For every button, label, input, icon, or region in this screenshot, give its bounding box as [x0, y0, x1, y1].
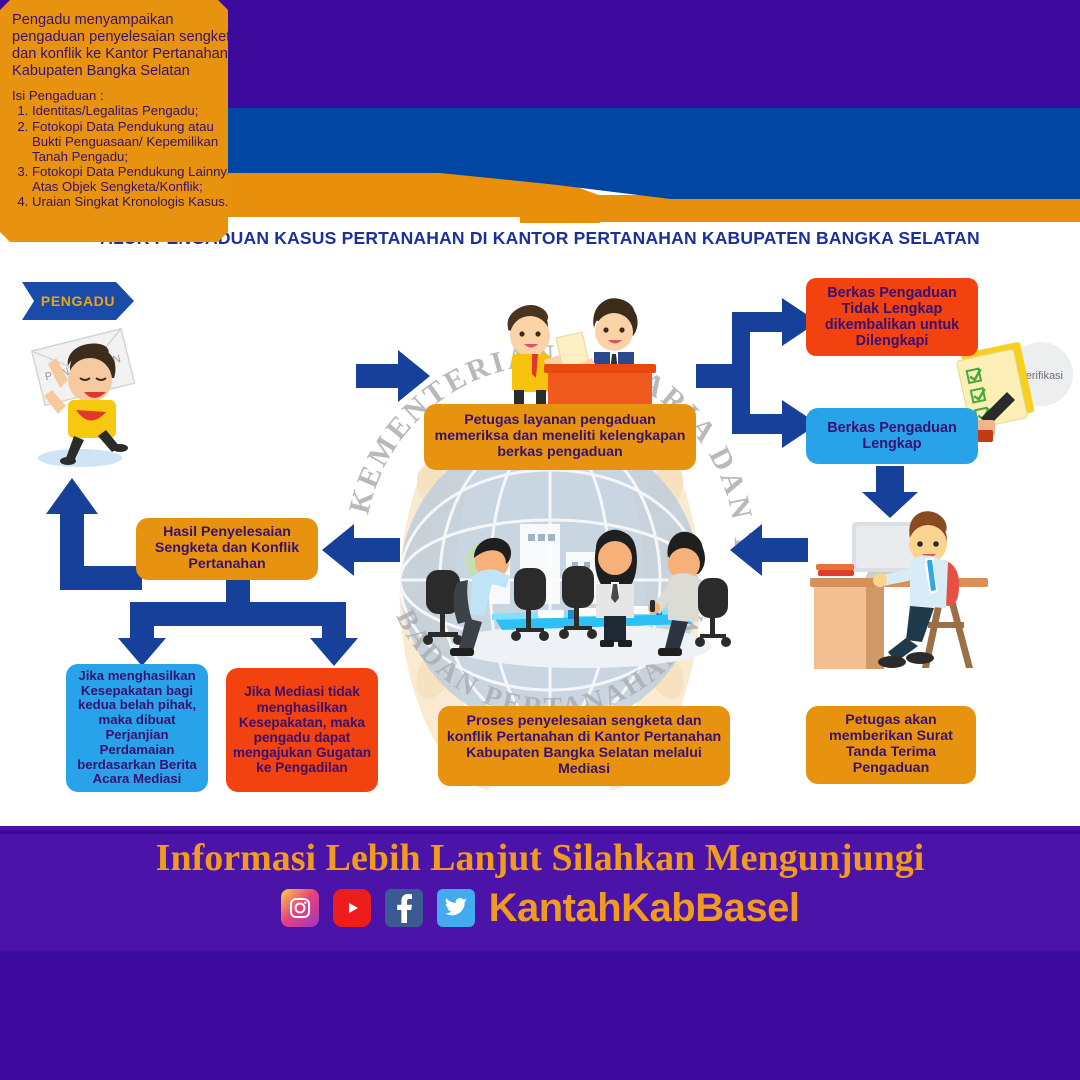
step1-heading: Pengadu menyampaikan pengaduan penyelesa…: [12, 12, 240, 80]
box-step4-complete-file: Berkas Pengaduan Lengkap: [806, 408, 978, 464]
step1-item: Fotokopi Data Pendukung Lainnya Atas Obj…: [32, 164, 240, 194]
illustration-officer-desk: [810, 500, 1020, 672]
box-step5-receipt-issued: Petugas akan memberikan Surat Tanda Teri…: [806, 706, 976, 784]
infographic-poster: ALUR PENGADUAN KASUS PERTANAHAN DI KANTO…: [0, 0, 1080, 1080]
youtube-icon[interactable]: [333, 889, 371, 927]
arrow-officer-to-mediation: [730, 524, 808, 576]
arrow-result-to-step1: [46, 478, 142, 590]
step1-item: Fotokopi Data Pendukung atau Bukti Pengu…: [32, 119, 240, 165]
footer-heading: Informasi Lebih Lanjut Silahkan Mengunju…: [0, 836, 1080, 880]
footer-top-divider: [0, 830, 1080, 834]
bottom-purple-band: [0, 951, 1080, 1080]
footer-social-row: KantahKabBasel: [0, 880, 1080, 936]
box-step6-mediation-process: Proses penyelesaian sengketa dan konflik…: [438, 706, 730, 786]
box-step9-no-agreement: Jika Mediasi tidak menghasilkan Kesepaka…: [226, 668, 378, 792]
step1-item: Identitas/Legalitas Pengadu;: [32, 103, 240, 118]
social-handle: KantahKabBasel: [489, 886, 800, 931]
box-step3-incomplete-file: Berkas Pengaduan Tidak Lengkap dikembali…: [806, 278, 978, 356]
facebook-icon[interactable]: [385, 889, 423, 927]
arrow-mediation-to-result: [322, 524, 400, 576]
step1-subheading: Isi Pengaduan :: [12, 88, 240, 103]
illustration-service-counter: [452, 286, 682, 416]
box-step1-complaint-submission: Pengadu menyampaikan pengaduan penyelesa…: [0, 0, 250, 264]
arrow-step2-to-branch: [696, 296, 818, 466]
twitter-icon[interactable]: [437, 889, 475, 927]
instagram-icon[interactable]: [281, 889, 319, 927]
arrow-result-branch: [118, 580, 358, 666]
illustration-mediation-meeting: [406, 496, 736, 668]
arrow-step1-to-step2: [356, 350, 430, 402]
arrow-complete-to-officer: [862, 466, 918, 518]
header-orange-band-right: [560, 195, 1080, 222]
box-step8-agreement-reached: Jika menghasilkan Kesepakatan bagi kedua…: [66, 664, 208, 792]
box-step7-settlement-result: Hasil Penyelesaian Sengketa dan Konflik …: [136, 518, 318, 580]
step1-item-list: Identitas/Legalitas Pengadu; Fotokopi Da…: [12, 103, 240, 209]
illustration-complainant: PENGADUAN: [8, 318, 158, 473]
pengadu-badge: PENGADU: [22, 282, 134, 320]
step1-item: Uraian Singkat Kronologis Kasus.: [32, 194, 240, 209]
box-step2-officer-check: Petugas layanan pengaduan memeriksa dan …: [424, 404, 696, 470]
pengadu-label: PENGADU: [41, 293, 115, 309]
